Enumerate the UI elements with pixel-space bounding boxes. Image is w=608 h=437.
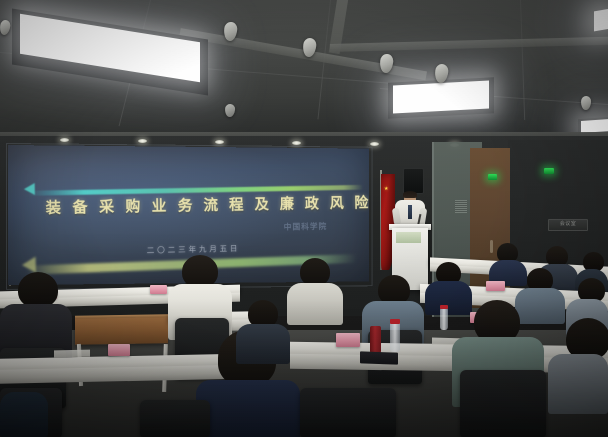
sprinkler-head-icon bbox=[581, 96, 592, 111]
desk-nameplate bbox=[336, 333, 360, 347]
exit-sign-icon bbox=[544, 168, 554, 174]
torso bbox=[0, 392, 48, 437]
water-bottle bbox=[440, 308, 448, 330]
lectern-monitor bbox=[396, 232, 421, 243]
chair-back bbox=[140, 400, 210, 437]
chair-back bbox=[300, 388, 396, 437]
ceiling bbox=[0, 0, 608, 150]
wall-vent-icon bbox=[455, 200, 467, 213]
presenter-hair bbox=[403, 191, 417, 198]
flag-star-icon: ★ bbox=[384, 186, 388, 192]
water-bottle bbox=[390, 322, 400, 352]
desk-nameplate bbox=[486, 281, 505, 291]
sprinkler-head-icon bbox=[0, 19, 11, 35]
torso bbox=[548, 354, 608, 414]
chair-back bbox=[460, 370, 546, 437]
bottle-cap bbox=[390, 319, 400, 324]
slide-arrow-top-head-icon bbox=[24, 183, 35, 195]
thermos-flask bbox=[370, 326, 381, 353]
notebook bbox=[360, 351, 398, 364]
wall-plaque: 会议室 bbox=[548, 219, 588, 231]
paper-sheet bbox=[54, 350, 90, 358]
slide-arrow-bottom-head-icon bbox=[22, 257, 36, 273]
torso bbox=[196, 380, 300, 437]
head bbox=[300, 258, 330, 286]
bottle-cap bbox=[440, 305, 448, 309]
sprinkler-head-icon bbox=[225, 104, 236, 118]
ceiling-grid-line bbox=[520, 0, 525, 120]
door-handle[interactable] bbox=[490, 240, 493, 253]
downlight-icon bbox=[215, 140, 224, 144]
ceiling-panel-light-4 bbox=[594, 9, 608, 32]
downlight-icon bbox=[370, 142, 379, 146]
downlight-icon bbox=[60, 138, 69, 142]
conference-room-photo: 会议室 ★ ★ ★ ★ 装 备 采 购 业 务 流 程 及 廉 政 风 险 防 … bbox=[0, 0, 608, 437]
torso bbox=[236, 324, 290, 364]
torso bbox=[515, 288, 565, 324]
torso bbox=[425, 281, 472, 315]
wall-speaker-icon bbox=[403, 168, 424, 194]
presenter-tie bbox=[408, 205, 412, 219]
downlight-icon bbox=[138, 139, 147, 143]
ceiling-beam bbox=[330, 37, 608, 52]
downlight-icon bbox=[292, 141, 301, 145]
desk-nameplate bbox=[150, 285, 167, 294]
ceiling-panel-light-2 bbox=[393, 80, 489, 113]
wood-desk bbox=[75, 317, 168, 345]
ceiling-panel-light-3 bbox=[581, 119, 608, 133]
desk-nameplate bbox=[108, 344, 130, 356]
head bbox=[18, 272, 58, 308]
slide-date: 二〇二三年九月五日 bbox=[147, 243, 241, 256]
torso bbox=[287, 283, 343, 325]
slide-watermark: 中国科学院 bbox=[284, 220, 328, 232]
exit-sign-icon bbox=[488, 174, 497, 180]
